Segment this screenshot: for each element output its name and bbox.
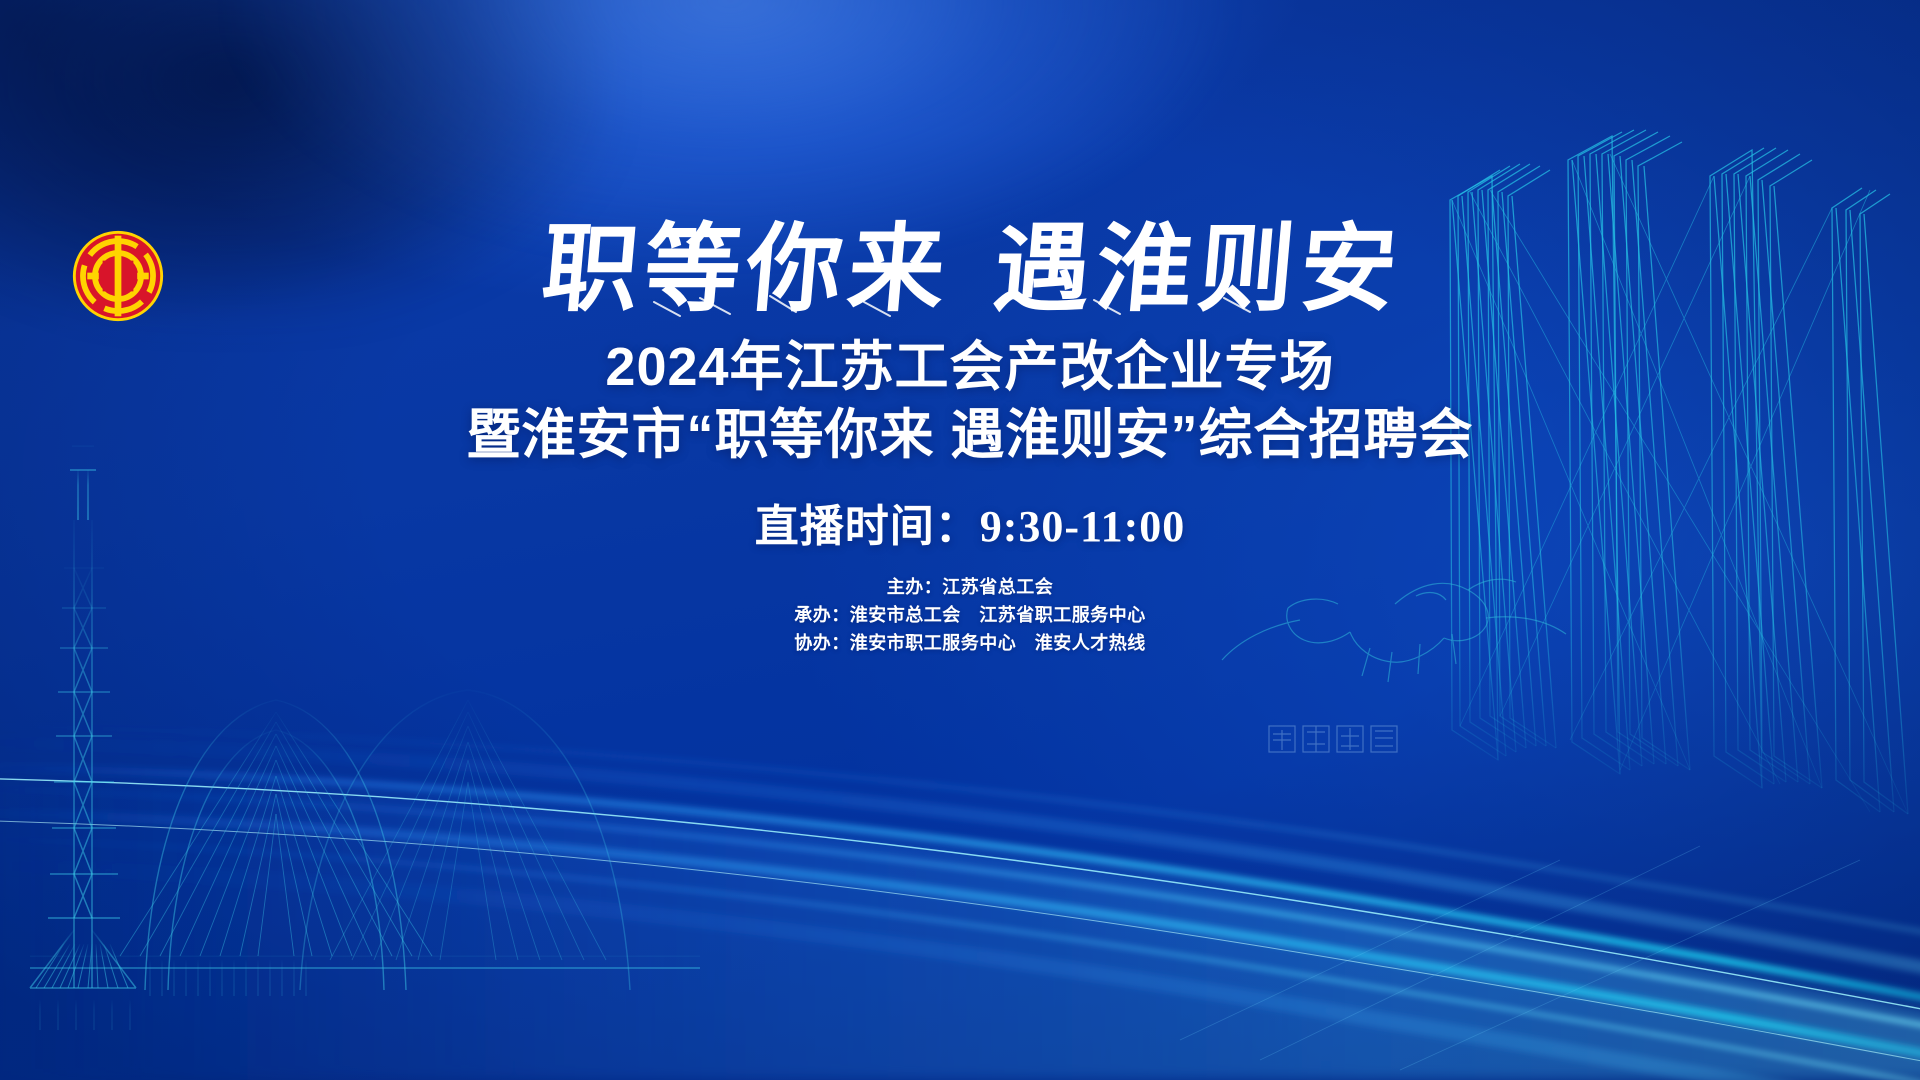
organizers-block: 主办：江苏省总工会 承办：淮安市总工会 江苏省职工服务中心 协办：淮安市职工服务… xyxy=(20,574,1920,658)
brush-calligraphy-headline: .brush { font-family: "Liberation Serif"… xyxy=(28,206,1920,329)
organizer-line-host: 主办：江苏省总工会 xyxy=(20,574,1920,602)
live-time-text: 直播时间：9:30-11:00 xyxy=(20,490,1920,554)
event-title-block: 2024年江苏工会产改企业专场 暨淮安市“职等你来 遇淮则安”综合招聘会 xyxy=(20,336,1920,467)
organizer-line-undertaker: 承办：淮安市总工会 江苏省职工服务中心 xyxy=(20,602,1920,630)
poster-canvas: .brush { font-family: "Liberation Serif"… xyxy=(0,0,1920,1080)
poster-content: .brush { font-family: "Liberation Serif"… xyxy=(0,0,1920,1080)
svg-text:遇淮则安: 遇淮则安 xyxy=(990,216,1407,323)
event-title-line-1: 2024年江苏工会产改企业专场 xyxy=(20,336,1920,400)
organizer-line-coorganizer: 协办：淮安市职工服务中心 淮安人才热线 xyxy=(20,630,1920,658)
watermark xyxy=(1265,722,1425,756)
event-title-line-2: 暨淮安市“职等你来 遇淮则安”综合招聘会 xyxy=(20,404,1920,468)
svg-text:职等你来: 职等你来 xyxy=(538,216,955,323)
